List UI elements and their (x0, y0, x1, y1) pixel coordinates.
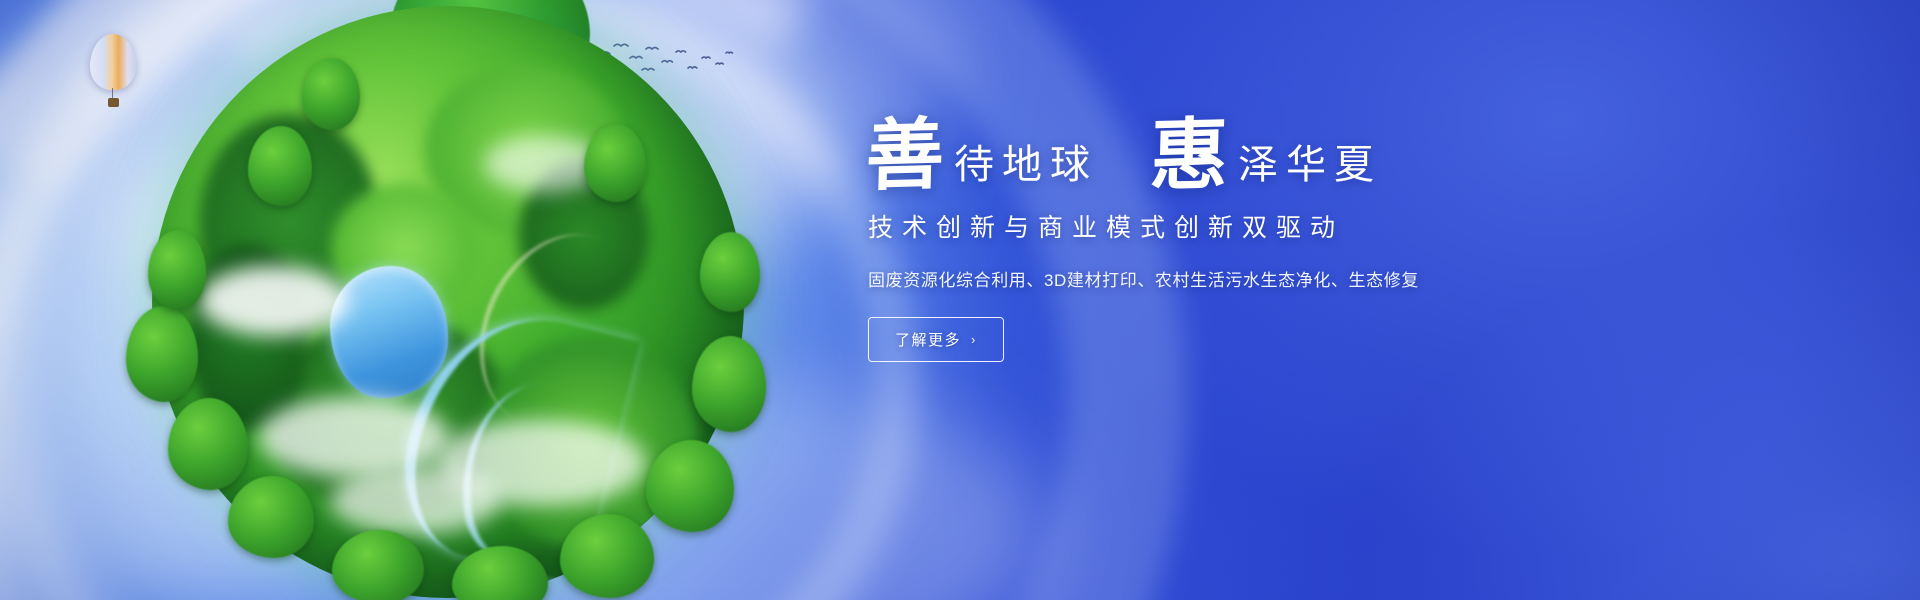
learn-more-label: 了解更多 (895, 329, 961, 350)
learn-more-button[interactable]: 了解更多 › (868, 317, 1004, 362)
headline-phrase-one: 善 待地球 (866, 120, 1098, 192)
banner-content: 善 待地球 惠 泽华夏 技术创新与商业模式创新双驱动 固废资源化综合利用、3D建… (862, 120, 1562, 362)
headline-char-large: 善 (865, 119, 945, 193)
banner-description: 固废资源化综合利用、3D建材打印、农村生活污水生态净化、生态修复 (868, 266, 1562, 291)
headline-phrase-two: 惠 泽华夏 (1150, 120, 1382, 192)
chevron-right-icon: › (971, 332, 977, 347)
headline-text-small: 泽华夏 (1238, 145, 1382, 185)
headline-char-large: 惠 (1149, 119, 1229, 193)
hero-banner: 善 待地球 惠 泽华夏 技术创新与商业模式创新双驱动 固废资源化综合利用、3D建… (0, 0, 1920, 600)
page-title: 善 待地球 惠 泽华夏 (866, 120, 1562, 192)
banner-subtitle: 技术创新与商业模式创新双驱动 (868, 208, 1562, 244)
headline-text-small: 待地球 (954, 145, 1098, 185)
